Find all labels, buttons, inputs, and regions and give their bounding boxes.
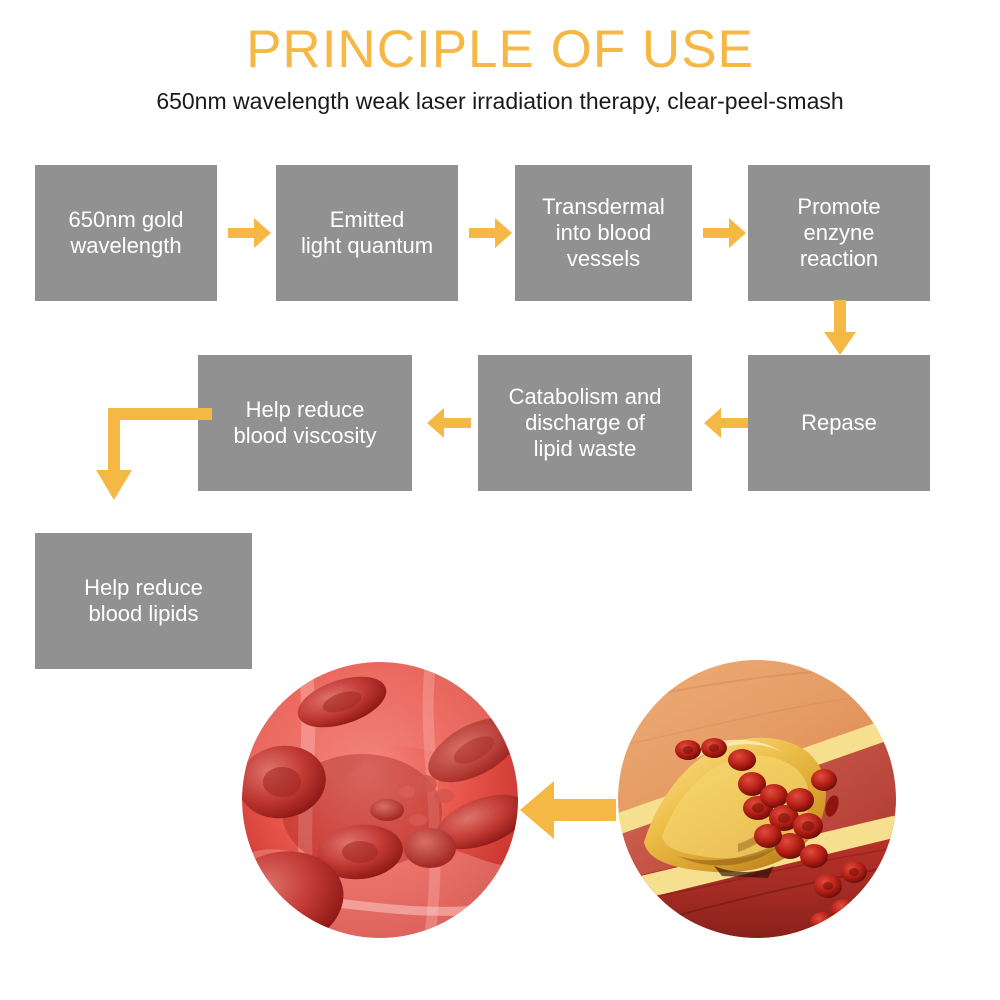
page-subtitle: 650nm wavelength weak laser irradiation … (0, 88, 1000, 115)
flow-box-emitted-light-quantum[interactable]: Emitted light quantum (276, 165, 458, 301)
arrow-right-icon-2 (469, 212, 513, 254)
flow-box-repase[interactable]: Repase (748, 355, 930, 491)
flow-box-catabolism-discharge-lipid-waste[interactable]: Catabolism and discharge of lipid waste (478, 355, 692, 491)
flow-box-help-reduce-blood-lipids[interactable]: Help reduce blood lipids (35, 533, 252, 669)
flow-box-promote-enzyne-reaction[interactable]: Promote enzyne reaction (748, 165, 930, 301)
arrow-down-icon-1 (818, 300, 862, 356)
principle-of-use-infographic: PRINCIPLE OF USE 650nm wavelength weak l… (0, 0, 1000, 1000)
flow-box-650nm-gold-wavelength[interactable]: 650nm gold wavelength (35, 165, 217, 301)
flow-box-transdermal-into-blood-vessels[interactable]: Transdermal into blood vessels (515, 165, 692, 301)
arrow-right-icon-3 (703, 212, 747, 254)
clogged-artery-plaque-photo (618, 660, 896, 938)
flow-box-help-reduce-blood-viscosity[interactable]: Help reduce blood viscosity (198, 355, 412, 491)
arrow-elbow-left-down-icon (96, 408, 212, 508)
healthy-blood-vessel-photo (242, 662, 518, 938)
arrow-left-icon-1 (423, 402, 471, 444)
arrow-left-icon-2 (700, 402, 748, 444)
arrow-left-icon-illustration (516, 775, 616, 845)
page-title: PRINCIPLE OF USE (0, 22, 1000, 78)
arrow-right-icon-1 (228, 212, 272, 254)
